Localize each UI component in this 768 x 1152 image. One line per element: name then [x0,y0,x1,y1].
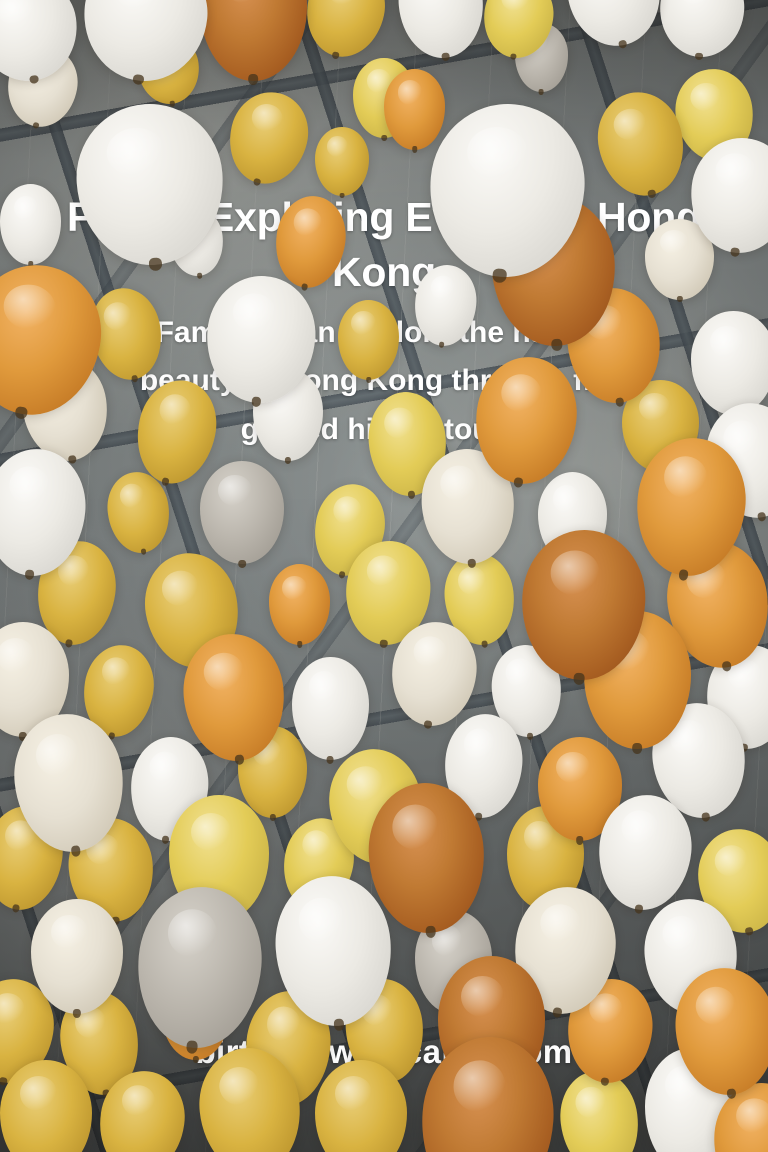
balloon-highlight [457,565,487,595]
balloon-highlight [301,828,333,860]
balloon-highlight [504,658,534,688]
balloon-highlight [662,454,709,500]
balloon-highlight [500,0,531,14]
balloon-highlight [440,465,479,502]
balloon-highlight [20,1076,57,1111]
balloon-highlight [712,843,750,879]
balloon-highlight [660,230,688,254]
balloon-highlight [556,752,590,783]
balloon-highlight [351,311,376,335]
balloon-highlight [639,393,670,421]
balloon-highlight [714,152,757,191]
balloon-highlight [202,650,245,691]
balloon-highlight [166,907,219,959]
balloon-highlight [538,902,582,945]
balloon-highlight [331,494,363,526]
balloon-highlight [553,485,581,513]
balloon-highlight [282,576,307,600]
balloon-highlight [118,483,145,510]
balloon-highlight [51,915,88,950]
balloon-highlight [735,1097,768,1135]
balloon-highlight [679,0,715,7]
balloon-highlight [223,0,266,3]
balloon-highlight [265,1005,302,1042]
balloon-highlight [293,206,324,237]
balloon-highlight [0,280,59,333]
balloon-highlight [550,549,601,596]
balloon-highlight [0,0,38,27]
balloon-highlight [232,292,278,333]
balloon-highlight [249,101,285,135]
balloon-highlight [391,804,439,851]
balloon-highlight [465,124,531,181]
balloon-highlight [661,914,701,952]
pinterest-style-promo-card: Family Exploring Events in Hong Kong Fam… [0,0,768,1152]
balloon-highlight [429,275,456,302]
balloon-highlight [34,733,81,779]
balloon-highlight [157,391,194,428]
balloon-highlight [398,80,423,104]
balloon-highlight [411,634,448,669]
balloon-highlight [335,1076,372,1111]
balloon-highlight [610,105,650,142]
balloon-highlight [102,300,134,332]
balloon [292,657,369,761]
balloon-highlight [694,985,737,1026]
balloon-highlight [101,655,133,687]
balloon-highlight [7,465,50,506]
balloon-highlight [499,372,543,415]
balloon-highlight [0,638,34,673]
balloon-highlight [452,1059,508,1114]
balloon-highlight [159,568,201,608]
balloon-highlight [112,0,165,11]
balloon-highlight [620,809,660,847]
balloon-highlight [217,1065,261,1107]
balloon-highlight [0,990,27,1026]
balloon-highlight [382,406,415,440]
balloon-highlight [218,475,252,506]
balloon-highlight [463,727,496,761]
balloon-highlight [345,764,386,803]
balloon-highlight [298,896,347,944]
balloon-highlight [191,813,231,851]
balloon-highlight [365,554,401,588]
balloon-highlight [105,125,167,177]
balloon-highlight [710,326,744,357]
balloon-highlight [14,196,39,220]
balloon-highlight [148,750,181,783]
balloon-highlight [326,0,362,8]
balloon-highlight [688,81,722,113]
balloon-highlight [120,1083,158,1118]
balloon-highlight [327,136,349,157]
balloon-highlight [573,1085,607,1120]
balloon-highlight [309,671,340,702]
balloon-highlight [461,976,504,1017]
balloon-highlight [415,0,451,2]
